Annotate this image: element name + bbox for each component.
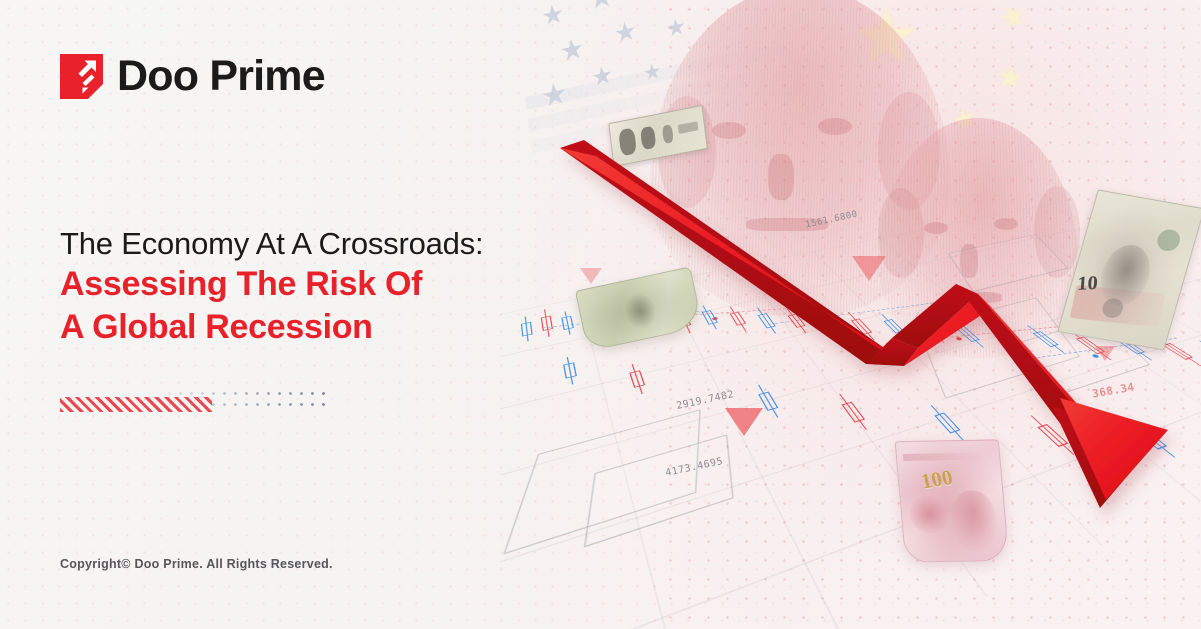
warning-triangle-icon	[852, 256, 886, 281]
one-hundred-yuan-note: 100	[895, 439, 1010, 562]
headline-line-1: The Economy At A Crossroads:	[60, 224, 620, 263]
decorative-divider	[60, 388, 328, 416]
divider-dot-grid	[164, 388, 328, 413]
headline-line-3: A Global Recession	[60, 306, 620, 349]
copyright-text: Copyright© Doo Prime. All Rights Reserve…	[60, 557, 333, 571]
page-title: The Economy At A Crossroads: Assessing T…	[60, 224, 620, 349]
warning-triangle-icon	[725, 408, 763, 436]
content-column: Doo Prime The Economy At A Crossroads: A…	[60, 0, 580, 629]
brand-logo[interactable]: Doo Prime	[60, 52, 325, 101]
doo-prime-logo-mark	[60, 54, 103, 99]
headline-line-2: Assessing The Risk Of	[60, 263, 620, 306]
promo-banner: ★ ★ ★ ★ ★ ★ ★ ★ ★ ★ ★ ★ ★ ★ ★	[0, 0, 1201, 629]
brand-wordmark: Doo Prime	[117, 52, 325, 101]
warning-triangle-icon	[1095, 346, 1115, 361]
